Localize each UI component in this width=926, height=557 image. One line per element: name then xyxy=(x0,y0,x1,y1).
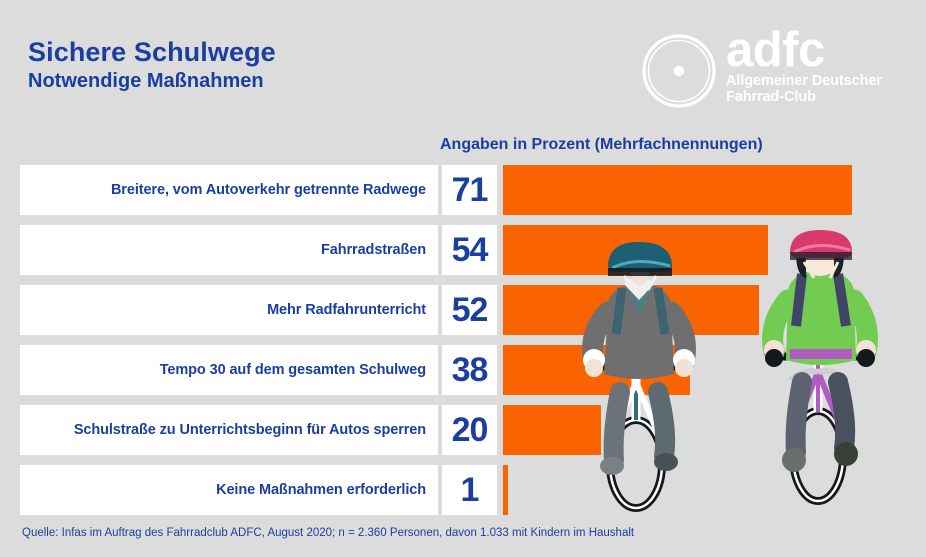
chart-bar xyxy=(503,465,508,515)
page-subtitle: Notwendige Maßnahmen xyxy=(28,71,276,92)
chart-row-value: 52 xyxy=(452,293,488,327)
chart-row-label-box: Schulstraße zu Unterrichtsbeginn für Aut… xyxy=(20,405,438,455)
chart-row-label: Schulstraße zu Unterrichtsbeginn für Aut… xyxy=(74,422,426,438)
cyclists-illustration xyxy=(560,230,900,515)
chart-row-label: Fahrradstraßen xyxy=(321,242,426,258)
adfc-logo: adfc Allgemeiner Deutscher Fahrrad-Club xyxy=(640,28,898,110)
source-note: Quelle: Infas im Auftrag des Fahrradclub… xyxy=(22,527,634,539)
infographic-canvas: Sichere Schulwege Notwendige Maßnahmen a… xyxy=(0,0,926,557)
logo-subline-1: Allgemeiner Deutscher xyxy=(726,73,882,89)
chart-row-label-box: Breitere, vom Autoverkehr getrennte Radw… xyxy=(20,165,438,215)
bicycle-wheel-icon xyxy=(640,32,718,110)
chart-row-label: Mehr Radfahrunterricht xyxy=(267,302,426,318)
boy-on-bicycle-illustration xyxy=(572,242,707,514)
chart-row-label: Breitere, vom Autoverkehr getrennte Radw… xyxy=(111,182,426,198)
chart-row: Breitere, vom Autoverkehr getrennte Radw… xyxy=(0,165,926,215)
chart-row-label-box: Mehr Radfahrunterricht xyxy=(20,285,438,335)
chart-row-label: Keine Maßnahmen erforderlich xyxy=(216,482,426,498)
chart-row-value-box: 52 xyxy=(442,285,497,335)
title-block: Sichere Schulwege Notwendige Maßnahmen xyxy=(28,38,276,92)
chart-bar-track xyxy=(503,165,926,215)
chart-row-value-box: 20 xyxy=(442,405,497,455)
logo-wordmark: adfc xyxy=(726,28,882,73)
chart-header-label: Angaben in Prozent (Mehrfachnennungen) xyxy=(440,136,763,154)
chart-row-value: 1 xyxy=(461,473,479,507)
logo-subline-2: Fahrrad-Club xyxy=(726,89,882,105)
girl-on-bicycle-illustration xyxy=(756,230,886,508)
chart-row-label-box: Fahrradstraßen xyxy=(20,225,438,275)
chart-row-value: 20 xyxy=(452,413,488,447)
chart-row-value-box: 38 xyxy=(442,345,497,395)
chart-row-value: 38 xyxy=(452,353,488,387)
page-title: Sichere Schulwege xyxy=(28,38,276,66)
chart-row-value: 54 xyxy=(452,233,488,267)
chart-row-value: 71 xyxy=(452,173,488,207)
chart-row-value-box: 71 xyxy=(442,165,497,215)
chart-row-label: Tempo 30 auf dem gesamten Schulweg xyxy=(160,362,426,378)
chart-row-value-box: 54 xyxy=(442,225,497,275)
chart-row-label-box: Tempo 30 auf dem gesamten Schulweg xyxy=(20,345,438,395)
logo-text-block: adfc Allgemeiner Deutscher Fahrrad-Club xyxy=(726,28,882,106)
chart-bar xyxy=(503,165,852,215)
chart-row-value-box: 1 xyxy=(442,465,497,515)
chart-row-label-box: Keine Maßnahmen erforderlich xyxy=(20,465,438,515)
